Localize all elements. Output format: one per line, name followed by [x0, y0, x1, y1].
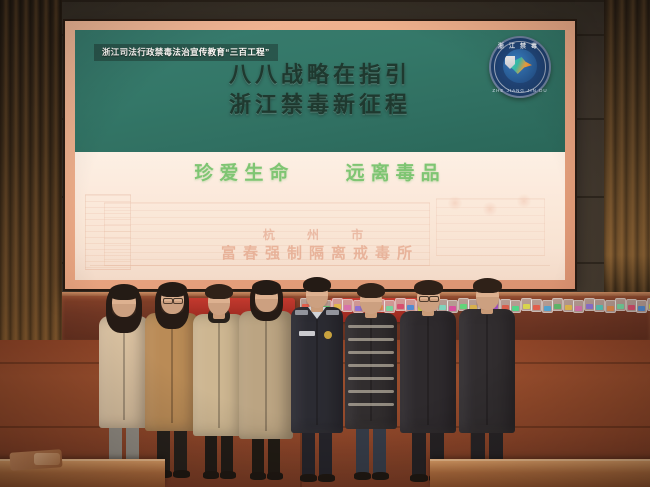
person-8-man-dark-sweater: [0, 0, 650, 487]
desk-object: [34, 453, 60, 465]
foreground-desk-right: [430, 459, 650, 487]
photo-canvas: 浙江司法行政禁毒法治宣传教育“三百工程” 八八战略在指引 浙江禁毒新征程 浙江禁…: [0, 0, 650, 487]
person-coat-placket: [486, 315, 488, 425]
person-hair-top: [473, 278, 502, 293]
person-face-shadow: [476, 297, 499, 310]
